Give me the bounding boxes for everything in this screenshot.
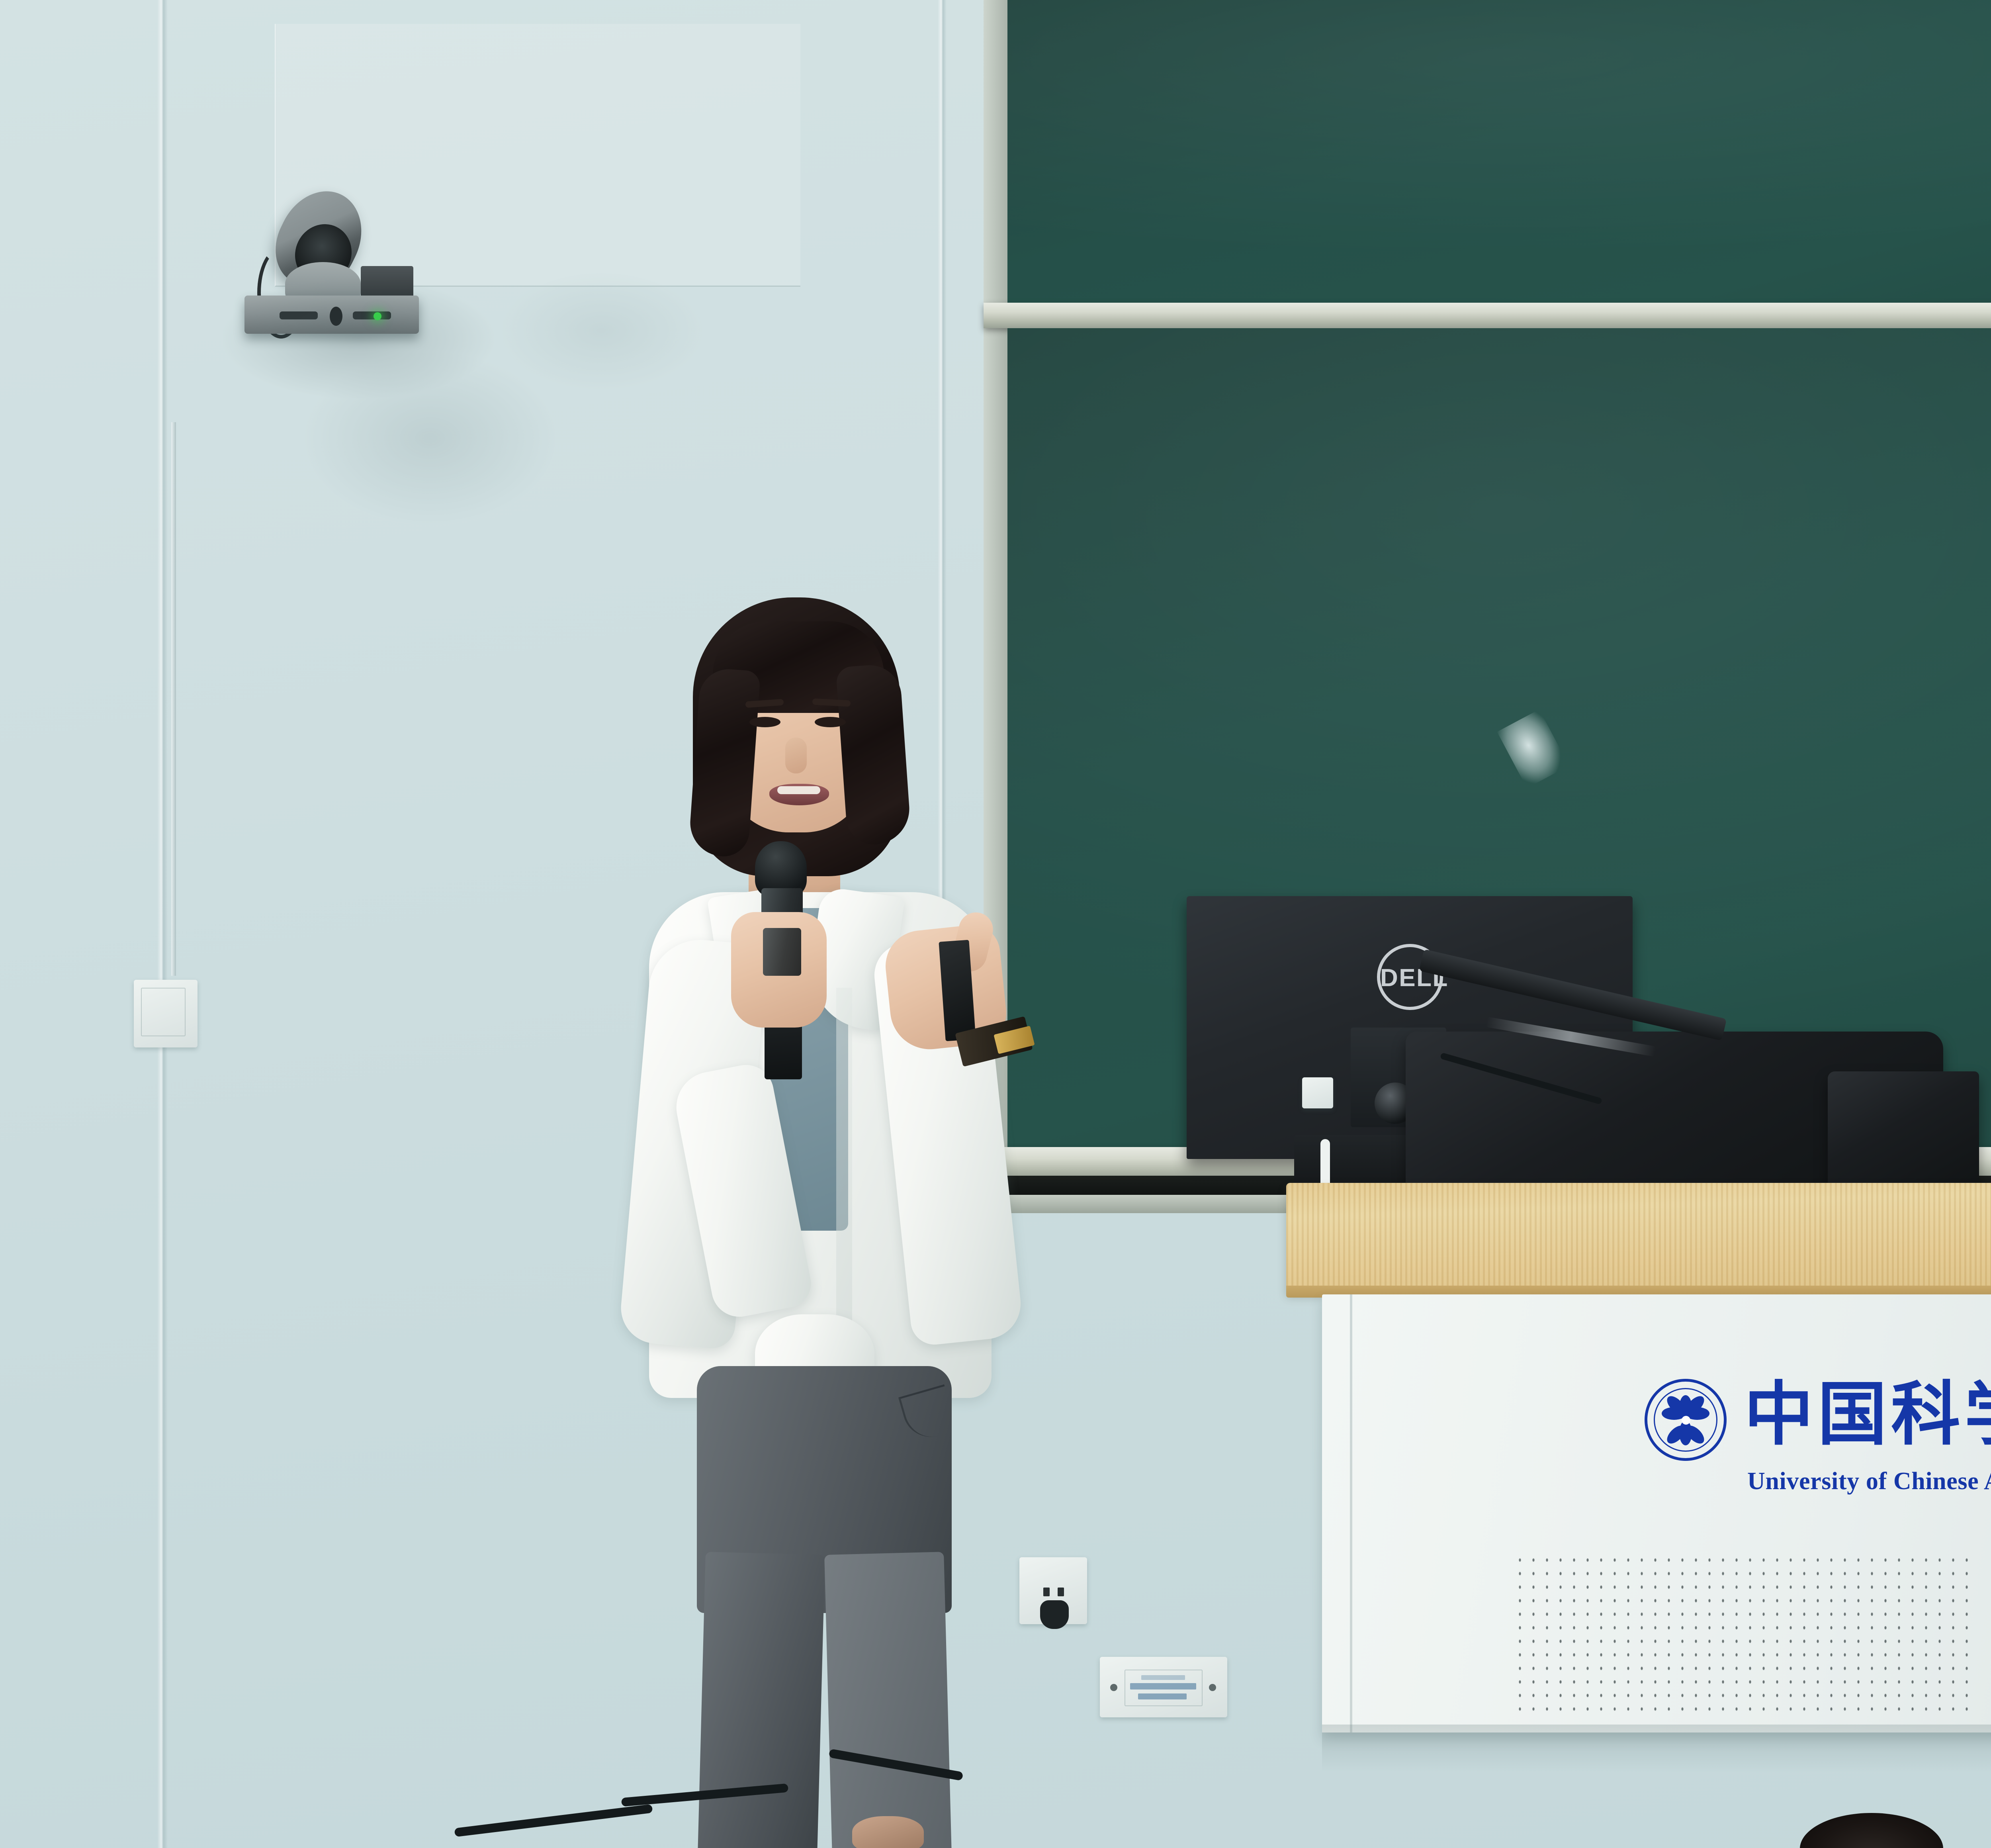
wall-conduit <box>171 422 176 976</box>
podium-perforation-right <box>1987 1553 1991 1721</box>
ucas-logo: 中国科学院大学 University of Chinese Academy of… <box>1645 1370 1991 1537</box>
presenter-eye-right <box>815 717 846 727</box>
wall-sign-screw-right <box>1209 1684 1216 1691</box>
presenter-eye-left <box>749 717 780 727</box>
presenter-hair-side-right <box>835 663 911 846</box>
lecture-hall-photo: DELL <box>0 0 1991 1848</box>
blackboard-rail-upper <box>984 303 1991 328</box>
podium-perforation-left <box>1513 1553 1975 1721</box>
presenter <box>597 597 1123 1848</box>
ucas-seal-icon <box>1645 1379 1727 1461</box>
presenter-jeans-leg-left <box>698 1552 825 1848</box>
podium-seam-left <box>1350 1294 1352 1732</box>
presenter-teeth <box>777 786 820 794</box>
blackboard-panel-upper <box>1007 0 1991 303</box>
wall-sign-line-3 <box>1138 1693 1187 1699</box>
camera-wall-shadow <box>223 279 494 398</box>
ucas-logo-chinese: 中国科学院大学 <box>1744 1380 1991 1450</box>
podium-top-grain <box>1286 1183 1991 1293</box>
handheld-mic-grip-over-hand <box>763 928 801 976</box>
podium-base-shadow <box>1322 1725 1991 1772</box>
ucas-logo-english: University of Chinese Academy of Science… <box>1747 1469 1991 1494</box>
podium-top <box>1286 1183 1991 1293</box>
presenter-jeans-leg-right <box>824 1552 952 1848</box>
ucas-petal-center <box>1682 1416 1690 1425</box>
light-switch-plate[interactable] <box>134 980 198 1047</box>
podium-cable-grommet <box>1302 1077 1333 1108</box>
presenter-nose <box>785 738 807 773</box>
wall-sign-line-2 <box>1130 1683 1196 1689</box>
presenter-shoe <box>852 1816 924 1848</box>
presenter-shirt-placket <box>836 988 852 1346</box>
wall-sign-line-1 <box>1141 1675 1185 1680</box>
wall-seam-left <box>157 0 168 1848</box>
light-switch-rocker[interactable] <box>141 988 186 1036</box>
wall-smudge-2 <box>498 271 705 390</box>
